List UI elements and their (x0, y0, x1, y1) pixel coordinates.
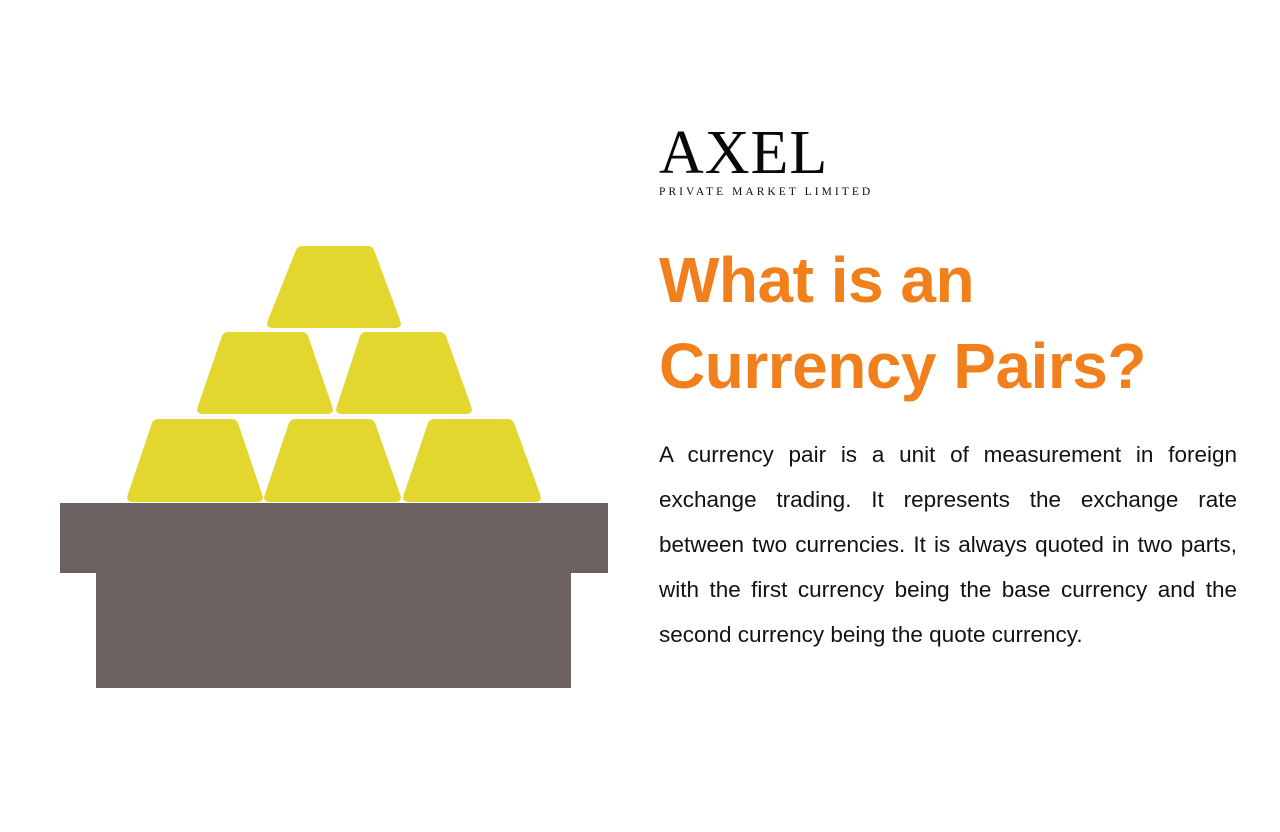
brand-logo: AXEL PRIVATE MARKET LIMITED (659, 127, 1079, 199)
gold-bar-middle-left (197, 332, 333, 414)
pedestal-group (60, 503, 608, 688)
page-title-line-1: What is an (659, 237, 1219, 323)
gold-bars-illustration (0, 0, 640, 832)
content-column: AXEL PRIVATE MARKET LIMITED What is an C… (659, 0, 1239, 832)
gold-bar-top (267, 246, 401, 328)
gold-bar-bottom-right (403, 419, 541, 502)
slide-canvas: AXEL PRIVATE MARKET LIMITED What is an C… (0, 0, 1280, 832)
gold-bar-middle-right (336, 332, 472, 414)
body-paragraph: A currency pair is a unit of measurement… (659, 432, 1237, 657)
pedestal-base (96, 573, 571, 688)
page-title-line-2: Currency Pairs? (659, 323, 1219, 409)
page-title: What is an Currency Pairs? (659, 237, 1219, 409)
gold-bar-bottom-left (127, 419, 263, 502)
gold-bars-group (127, 246, 541, 502)
gold-bar-bottom-center (264, 419, 401, 502)
pedestal-top-slab (60, 503, 608, 573)
brand-wordmark: AXEL (659, 127, 1079, 180)
brand-tagline: PRIVATE MARKET LIMITED (659, 187, 1079, 199)
